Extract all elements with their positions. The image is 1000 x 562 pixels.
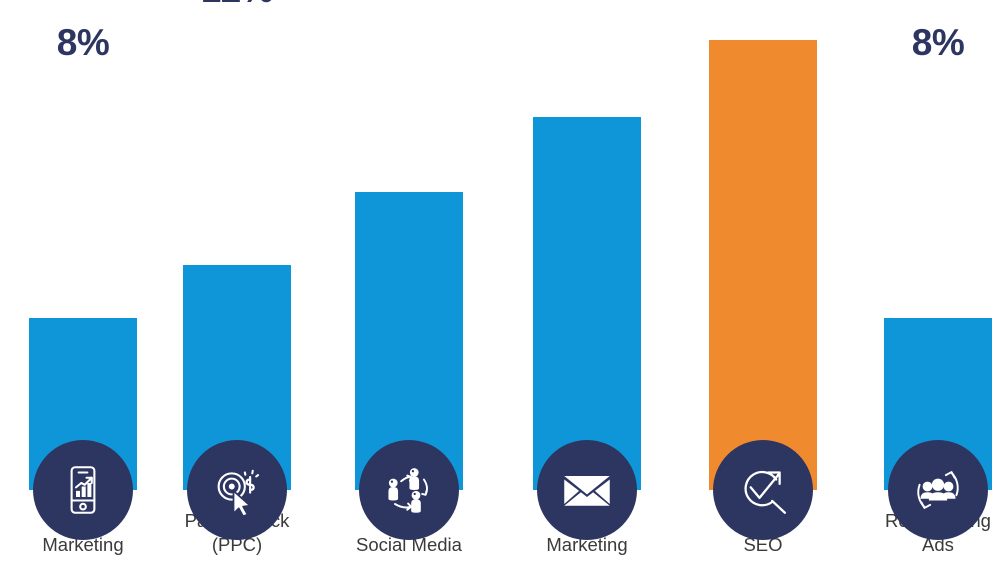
bar-value-mobile-marketing: 8% <box>0 24 166 61</box>
magnifier-growth-arrow-icon-glyph <box>735 462 791 518</box>
bar-value-pay-per-click: 12% <box>154 0 320 8</box>
people-network-icon-glyph <box>381 462 437 518</box>
cursor-click-dollar-icon <box>187 440 287 540</box>
group-refresh-icon <box>888 440 988 540</box>
bar-column-pay-per-click: 12% Pay per click (PPC) <box>154 0 320 562</box>
envelope-icon-glyph <box>559 462 615 518</box>
bar-column-social-media: 18% <box>326 0 492 562</box>
bar-column-mobile-marketing: 8% Mobile Marketing <box>0 0 166 562</box>
smartphone-chart-icon <box>33 440 133 540</box>
bar-seo <box>709 40 817 490</box>
bar-value-re-targeting-ads: 8% <box>855 24 1000 61</box>
bar-column-seo: 30% SEO <box>680 0 846 562</box>
magnifier-growth-arrow-icon <box>713 440 813 540</box>
bar-column-email-marketing: 24% E-mail Marketing <box>504 0 670 562</box>
bar-email-marketing <box>533 117 641 490</box>
group-refresh-icon-glyph <box>910 462 966 518</box>
cursor-click-dollar-icon-glyph <box>209 462 265 518</box>
bar-column-re-targeting-ads: 8% Re-Targeting Ads <box>855 0 1000 562</box>
bar-chart-infographic: 8% Mobile Marketing 12% <box>0 0 1000 562</box>
envelope-icon <box>537 440 637 540</box>
smartphone-chart-icon-glyph <box>55 462 111 518</box>
people-network-icon <box>359 440 459 540</box>
